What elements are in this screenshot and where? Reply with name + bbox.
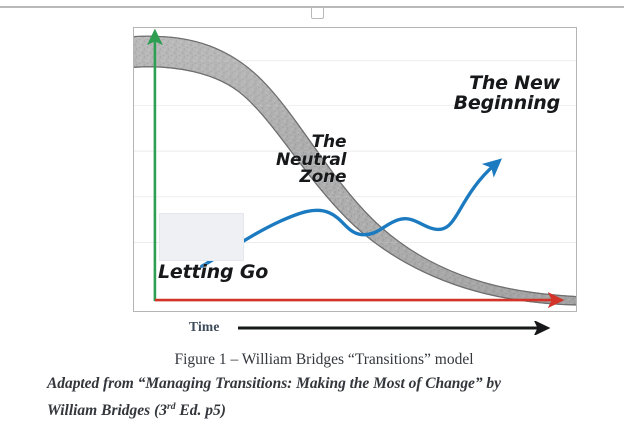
figure-caption: Figure 1 – William Bridges “Transitions”… — [0, 348, 624, 425]
caption-source-line-2: William Bridges (3rd Ed. p5) — [0, 398, 624, 425]
redaction-box — [159, 213, 244, 261]
page-break-rule — [0, 6, 624, 8]
label-the-neutral-zone: The Neutral Zone — [276, 134, 346, 187]
caption-edition-post: Ed. p5) — [176, 402, 226, 419]
time-axis-label: Time — [189, 319, 220, 335]
label-the-new-beginning: The New Beginning — [454, 74, 560, 114]
time-axis-row: Time — [133, 315, 577, 341]
time-arrow-icon — [238, 321, 558, 335]
caption-ordinal-suffix: rd — [167, 401, 176, 412]
caption-author-pre: William Bridges (3 — [47, 402, 167, 419]
page-break-notch-icon — [311, 8, 324, 19]
figure-frame: The New Beginning The Neutral Zone Letti… — [133, 27, 577, 312]
caption-title: Figure 1 – William Bridges “Transitions”… — [0, 348, 624, 371]
caption-source-line-1: Adapted from “Managing Transitions: Maki… — [0, 371, 624, 398]
label-letting-go: Letting Go — [158, 263, 268, 283]
